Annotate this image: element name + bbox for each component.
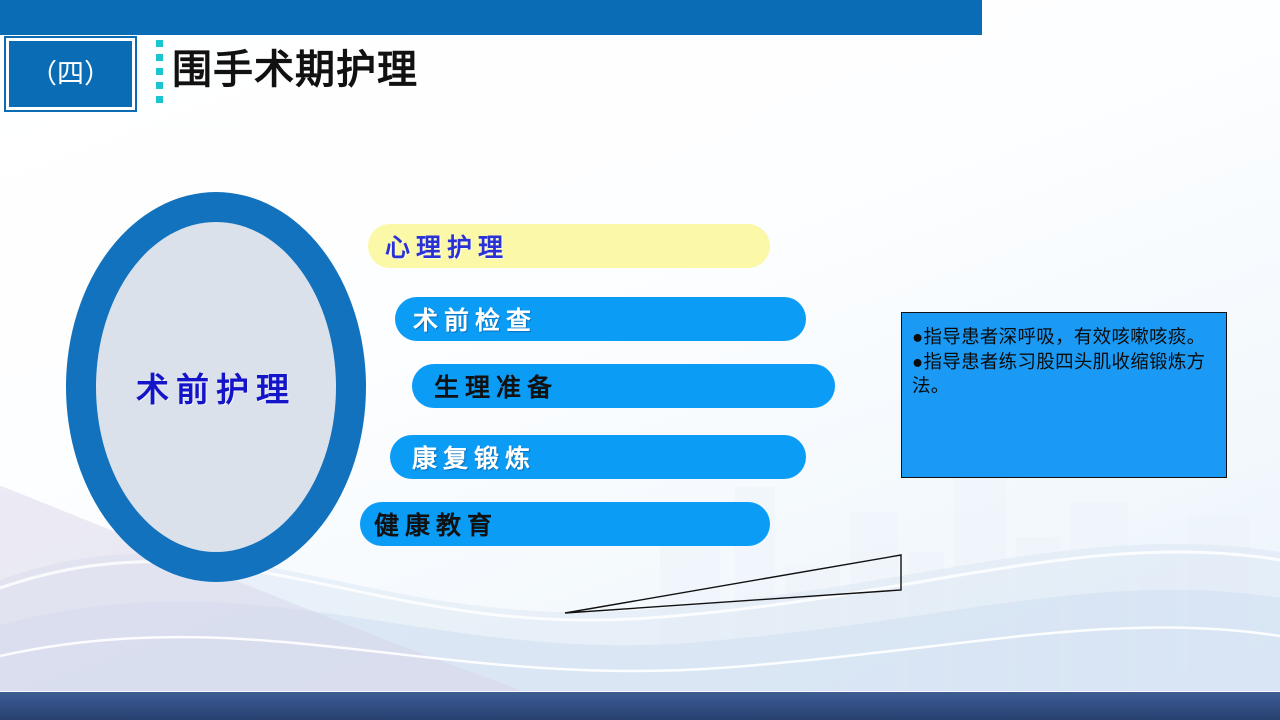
slide-canvas: （四） 围手术期护理 术前护理 心理护理 术前检查 生理准备 康复锻炼 健康教育…	[0, 0, 1280, 720]
top-accent-bar	[0, 0, 982, 35]
footer-band	[0, 692, 1280, 720]
diagram-item-physiological-prep[interactable]: 生理准备	[412, 364, 835, 408]
diagram-item-health-education[interactable]: 健康教育	[360, 502, 770, 546]
diagram-item-rehab-training[interactable]: 康复锻炼	[390, 435, 806, 479]
dotted-divider-icon	[156, 40, 163, 110]
callout-box: ●指导患者深呼吸，有效咳嗽咳痰。 ●指导患者练习股四头肌收缩锻炼方法。	[901, 312, 1227, 478]
page-title: 围手术期护理	[172, 46, 418, 94]
section-number-badge: （四）	[6, 38, 135, 110]
diagram-item-label: 生理准备	[434, 368, 558, 404]
diagram-item-label: 心理护理	[385, 228, 509, 264]
diagram-item-label: 术前检查	[413, 301, 537, 337]
diagram-item-label: 康复锻炼	[412, 439, 536, 475]
callout-line-1: ●指导患者深呼吸，有效咳嗽咳痰。	[912, 325, 1216, 350]
callout-line-2: ●指导患者练习股四头肌收缩锻炼方法。	[912, 350, 1216, 399]
diagram-item-preop-exam[interactable]: 术前检查	[395, 297, 806, 341]
diagram-item-psychological-care[interactable]: 心理护理	[368, 224, 770, 268]
section-number-text: （四）	[30, 61, 111, 88]
center-circle-label: 术前护理	[96, 222, 336, 552]
diagram-item-label: 健康教育	[374, 506, 498, 542]
